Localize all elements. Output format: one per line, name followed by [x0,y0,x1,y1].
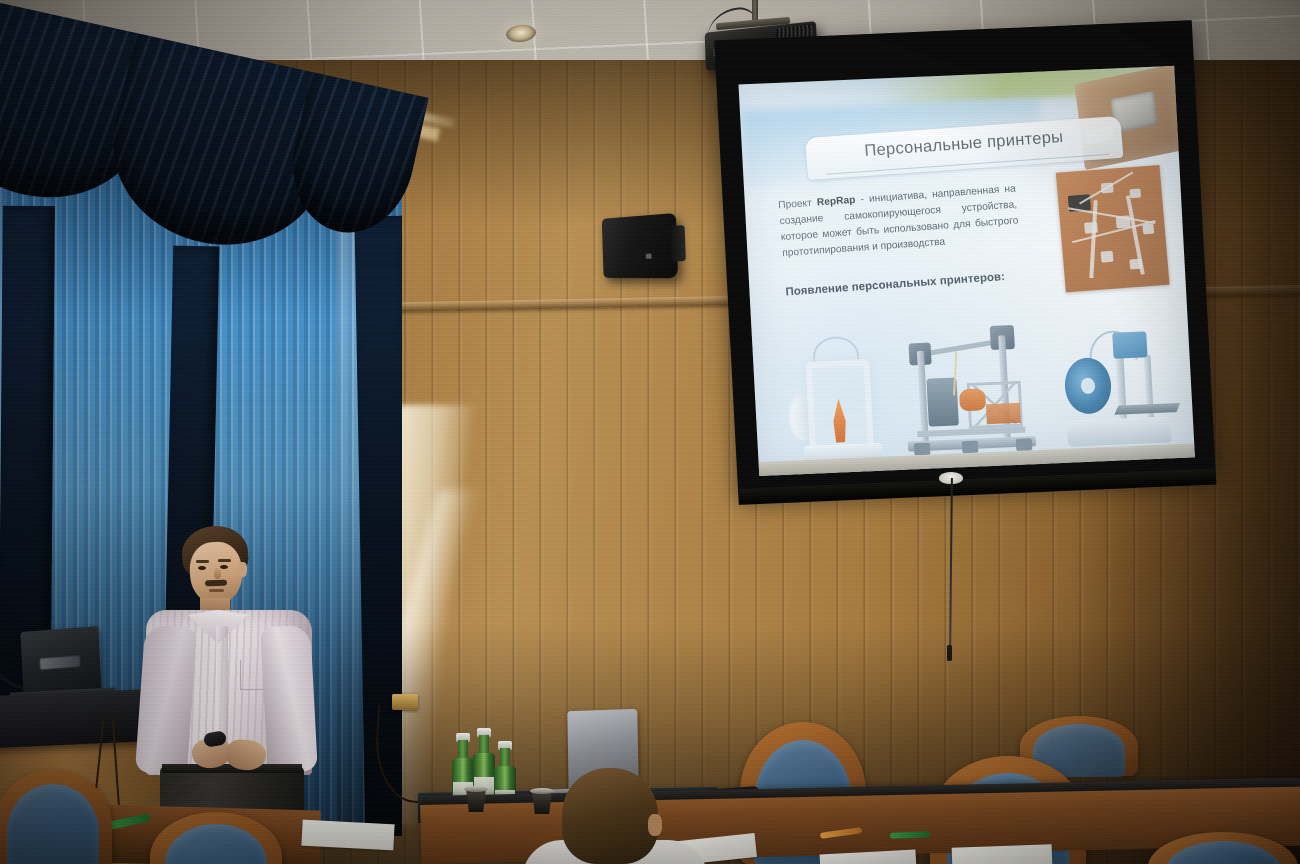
presenter-mouth [209,589,224,592]
presenter-arm [135,624,197,775]
audience-ear [648,814,662,836]
projected-slide: Персональные принтеры Проект RepRap - ин… [738,66,1194,476]
presenter-ear [238,562,247,577]
bottle-neck [500,748,510,768]
conference-room-scene: Персональные принтеры Проект RepRap - ин… [0,0,1300,864]
printer-enclosed-cube-icon [789,345,887,459]
projection-screen: Персональные принтеры Проект RepRap - ин… [714,20,1216,495]
presenter-eyebrow [218,559,231,562]
presenter-laptop[interactable] [20,626,101,698]
bottle-neck [458,740,468,760]
slide-body-text: Проект RepRap - инициатива, направленная… [778,181,1021,262]
presenter-eyebrow [196,560,209,563]
wall-socket-icon [392,694,418,710]
wall-speaker-icon [602,213,678,278]
slide-printer-row [766,318,1181,467]
presenter-eye [198,566,206,570]
screen-cord-tip[interactable] [947,645,952,661]
slide-body-rest: - инициатива, направленная на создание с… [779,183,1019,259]
conference-chair[interactable] [150,812,282,864]
presenter-eye [220,565,228,569]
presenter-arm [260,625,318,773]
bottle-neck [479,735,489,755]
paper-cup-rim [464,786,488,792]
paper-cup-rim [530,788,554,794]
printer-open-frame-icon [894,328,1046,454]
slide-subheading: Появление персональных принтеров: [785,267,1055,298]
slide-reprap-photo [1056,165,1170,292]
conference-chair[interactable] [0,770,112,864]
presenter-nose [214,568,221,579]
paper-sheet [952,844,1053,864]
laptop-logo [40,656,80,670]
paper-sheet [301,820,394,851]
presenter-moustache [205,580,227,587]
audience-head [562,768,658,864]
speaker-led-icon [646,254,652,259]
slide-body-bold-term: RepRap [817,195,856,209]
slide-body-prefix: Проект [778,198,818,212]
printer-cantilever-icon [1056,324,1178,447]
conference-chair[interactable] [1148,832,1298,864]
